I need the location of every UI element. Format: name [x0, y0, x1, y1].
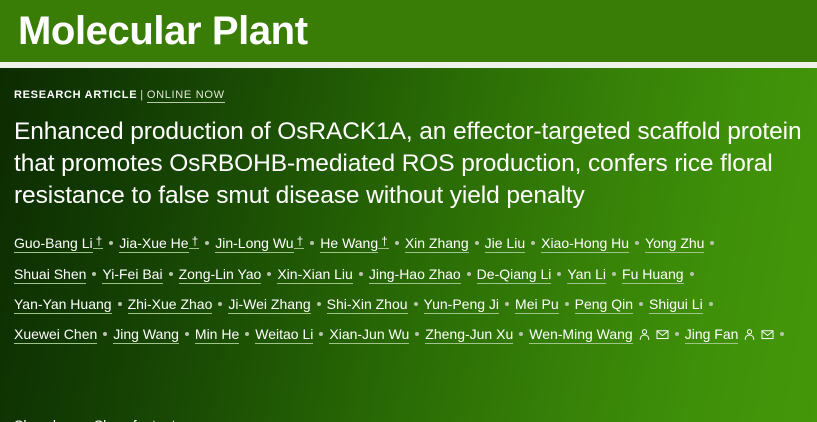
person-icon[interactable] [638, 328, 651, 341]
author-name[interactable]: De-Qiang Li [477, 266, 552, 284]
author-name[interactable]: Zheng-Jun Xu [425, 326, 513, 344]
author-separator-bullet [92, 272, 96, 276]
author-separator-bullet [505, 302, 509, 306]
show-less-link[interactable]: Show less [14, 417, 78, 422]
author-dagger-marker[interactable]: † [189, 234, 200, 249]
author-name[interactable]: Jia-Xue He [119, 235, 188, 253]
author-separator-bullet [414, 302, 418, 306]
author-name[interactable]: Xin-Xian Liu [277, 266, 353, 284]
kicker-separator: | [137, 89, 147, 101]
author-name[interactable]: He Wang [320, 235, 378, 253]
author-row: Xuewei ChenJing WangMin HeWeitao LiXian-… [14, 319, 809, 349]
envelope-icon[interactable] [761, 328, 774, 341]
author-separator-bullet [565, 302, 569, 306]
author-name[interactable]: Xiao-Hong Hu [541, 235, 629, 253]
author-name[interactable]: Zhi-Xue Zhao [128, 296, 213, 314]
author-name[interactable]: Jie Liu [485, 235, 525, 253]
article-page: Molecular Plant RESEARCH ARTICLE|ONLINE … [0, 0, 817, 422]
journal-title: Molecular Plant [18, 4, 308, 58]
author-row: Yan-Yan HuangZhi-Xue ZhaoJi-Wei ZhangShi… [14, 289, 809, 319]
article-kicker: RESEARCH ARTICLE|ONLINE NOW [14, 89, 225, 101]
author-name[interactable]: Xin Zhang [405, 235, 469, 253]
author-name[interactable]: Jing Wang [113, 326, 179, 344]
author-separator-bullet [185, 332, 189, 336]
show-footnotes-link[interactable]: Show footnotes [94, 417, 191, 422]
author-name[interactable]: Yun-Peng Ji [424, 296, 500, 314]
author-name[interactable]: Yong Zhu [645, 235, 704, 253]
author-separator-bullet [118, 302, 122, 306]
author-name[interactable]: Peng Qin [575, 296, 633, 314]
author-row: Shuai ShenYi-Fei BaiZong-Lin YaoXin-Xian… [14, 259, 809, 289]
author-separator-bullet [475, 241, 479, 245]
author-dagger-marker[interactable]: † [294, 234, 305, 249]
envelope-icon[interactable] [656, 328, 669, 341]
author-separator-bullet [635, 241, 639, 245]
author-name[interactable]: Xuewei Chen [14, 326, 97, 344]
journal-masthead: Molecular Plant [0, 0, 817, 62]
author-separator-bullet [415, 332, 419, 336]
author-separator-bullet [395, 241, 399, 245]
author-separator-bullet [310, 241, 314, 245]
author-name[interactable]: Fu Huang [622, 266, 683, 284]
author-name[interactable]: Xian-Jun Wu [329, 326, 409, 344]
article-type-label: RESEARCH ARTICLE [14, 89, 137, 101]
author-name[interactable]: Weitao Li [255, 326, 313, 344]
author-separator-bullet [169, 272, 173, 276]
author-name[interactable]: Min He [195, 326, 239, 344]
author-separator-bullet [205, 241, 209, 245]
author-separator-bullet [557, 272, 561, 276]
author-name[interactable]: Wen-Ming Wang [529, 326, 632, 344]
author-name[interactable]: Yan-Yan Huang [14, 296, 112, 314]
author-separator-bullet [317, 302, 321, 306]
author-name[interactable]: Jing Fan [685, 326, 739, 344]
author-dagger-marker[interactable]: † [378, 234, 389, 249]
author-name[interactable]: Shuai Shen [14, 266, 86, 284]
author-name[interactable]: Yan Li [567, 266, 606, 284]
author-name[interactable]: Yi-Fei Bai [102, 266, 162, 284]
author-separator-bullet [109, 241, 113, 245]
author-separator-bullet [690, 272, 694, 276]
author-separator-bullet [245, 332, 249, 336]
author-name[interactable]: Shi-Xin Zhou [327, 296, 408, 314]
person-icon[interactable] [743, 328, 756, 341]
author-toggle-links: Show lessShow footnotes [14, 417, 190, 422]
author-dagger-marker[interactable]: † [93, 234, 104, 249]
author-separator-bullet [639, 302, 643, 306]
author-separator-bullet [267, 272, 271, 276]
article-body: RESEARCH ARTICLE|ONLINE NOW Enhanced pro… [0, 68, 817, 422]
author-name[interactable]: Ji-Wei Zhang [228, 296, 310, 314]
author-name[interactable]: Mei Pu [515, 296, 559, 314]
author-name[interactable]: Shigui Li [649, 296, 703, 314]
author-separator-bullet [709, 302, 713, 306]
author-separator-bullet [710, 241, 714, 245]
author-separator-bullet [531, 241, 535, 245]
author-separator-bullet [780, 332, 784, 336]
author-separator-bullet [612, 272, 616, 276]
author-separator-bullet [675, 332, 679, 336]
author-separator-bullet [467, 272, 471, 276]
author-name[interactable]: Guo-Bang Li [14, 235, 93, 253]
author-list: Guo-Bang Li†Jia-Xue He†Jin-Long Wu†He Wa… [14, 228, 809, 349]
author-separator-bullet [519, 332, 523, 336]
author-row: Guo-Bang Li†Jia-Xue He†Jin-Long Wu†He Wa… [14, 228, 809, 259]
author-name[interactable]: Jin-Long Wu [215, 235, 293, 253]
online-now-link[interactable]: ONLINE NOW [147, 89, 225, 103]
author-name[interactable]: Zong-Lin Yao [179, 266, 262, 284]
author-name[interactable]: Jing-Hao Zhao [369, 266, 461, 284]
author-separator-bullet [359, 272, 363, 276]
page-title: Enhanced production of OsRACK1A, an effe… [14, 116, 804, 212]
author-separator-bullet [218, 302, 222, 306]
author-separator-bullet [319, 332, 323, 336]
author-separator-bullet [103, 332, 107, 336]
